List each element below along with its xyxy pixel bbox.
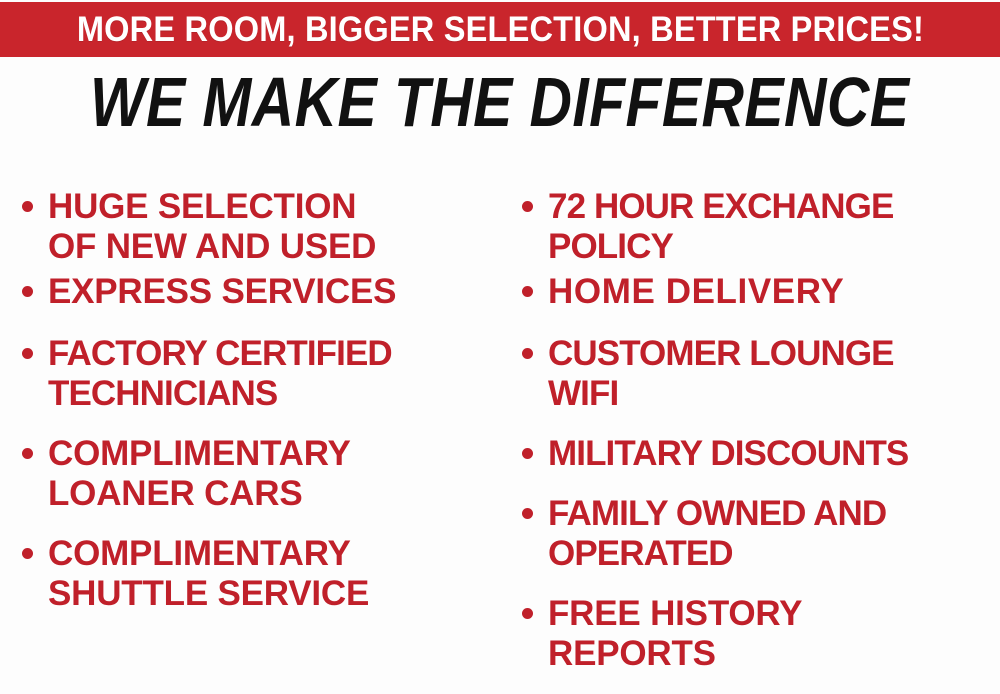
- list-item: HOME DELIVERY: [522, 272, 1000, 312]
- list-item-label: COMPLIMENTARY LOANER CARS: [48, 434, 351, 514]
- list-item: FAMILY OWNED AND OPERATED: [522, 494, 1000, 574]
- top-banner: MORE ROOM, BIGGER SELECTION, BETTER PRIC…: [0, 2, 1000, 57]
- bullet-dot-icon: [22, 448, 33, 459]
- list-item: HUGE SELECTION OF NEW AND USED: [22, 187, 500, 267]
- list-item-label: 72 HOUR EXCHANGE POLICY: [548, 187, 893, 267]
- banner-headline-text: MORE ROOM, BIGGER SELECTION, BETTER PRIC…: [76, 12, 923, 47]
- bullet-dot-icon: [522, 286, 533, 297]
- bullet-dot-icon: [522, 608, 533, 619]
- bullet-dot-icon: [522, 508, 533, 519]
- benefits-column-right: 72 HOUR EXCHANGE POLICY HOME DELIVERY CU…: [500, 160, 1000, 694]
- list-item-label: COMPLIMENTARY SHUTTLE SERVICE: [48, 534, 369, 614]
- bullet-dot-icon: [22, 286, 33, 297]
- list-item: 72 HOUR EXCHANGE POLICY: [522, 187, 1000, 267]
- list-item-label: HOME DELIVERY: [548, 272, 844, 312]
- list-item: COMPLIMENTARY SHUTTLE SERVICE: [22, 534, 500, 614]
- list-item: FREE HISTORY REPORTS: [522, 594, 1000, 674]
- list-item-label: MILITARY DISCOUNTS: [548, 434, 908, 474]
- list-item-label: FACTORY CERTIFIED TECHNICIANS: [48, 334, 392, 414]
- promotional-poster: MORE ROOM, BIGGER SELECTION, BETTER PRIC…: [0, 0, 1000, 694]
- list-item: COMPLIMENTARY LOANER CARS: [22, 434, 500, 514]
- bullet-dot-icon: [522, 201, 533, 212]
- benefits-columns: HUGE SELECTION OF NEW AND USED EXPRESS S…: [0, 160, 1000, 694]
- bullet-dot-icon: [522, 448, 533, 459]
- list-item-label: EXPRESS SERVICES: [48, 272, 396, 312]
- list-item: EXPRESS SERVICES: [22, 272, 500, 312]
- list-item: FACTORY CERTIFIED TECHNICIANS: [22, 334, 500, 414]
- list-item-label: HUGE SELECTION OF NEW AND USED: [48, 187, 376, 267]
- page-title: WE MAKE THE DIFFERENCE: [90, 67, 909, 137]
- list-item-label: CUSTOMER LOUNGE WIFI: [548, 334, 894, 414]
- headline-container: WE MAKE THE DIFFERENCE: [0, 66, 1000, 138]
- bullet-dot-icon: [22, 348, 33, 359]
- list-item-label: FAMILY OWNED AND OPERATED: [548, 494, 886, 574]
- list-item: MILITARY DISCOUNTS: [522, 434, 1000, 474]
- list-item-label: FREE HISTORY REPORTS: [548, 594, 802, 674]
- bullet-dot-icon: [522, 348, 533, 359]
- bullet-dot-icon: [22, 201, 33, 212]
- bullet-dot-icon: [22, 548, 33, 559]
- benefits-column-left: HUGE SELECTION OF NEW AND USED EXPRESS S…: [0, 160, 500, 694]
- list-item: CUSTOMER LOUNGE WIFI: [522, 334, 1000, 414]
